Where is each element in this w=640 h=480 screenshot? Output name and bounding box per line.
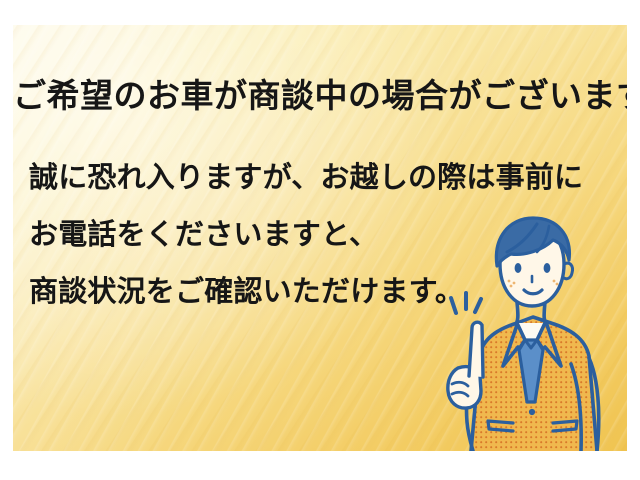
banner-headline: ご希望のお車が商談中の場合がございます — [13, 69, 627, 117]
announcement-banner: ご希望のお車が商談中の場合がございます 誠に恐れ入りますが、お越しの際は事前に … — [13, 25, 627, 451]
banner-content: ご希望のお車が商談中の場合がございます 誠に恐れ入りますが、お越しの際は事前に … — [13, 25, 627, 451]
banner-body-line-3: 商談状況をご確認いただけます。 — [29, 268, 464, 310]
banner-body-line-1: 誠に恐れ入りますが、お越しの際は事前に — [29, 154, 583, 196]
salesman-illustration — [425, 216, 625, 451]
banner-body-line-2: お電話をくださいますと、 — [29, 211, 378, 253]
